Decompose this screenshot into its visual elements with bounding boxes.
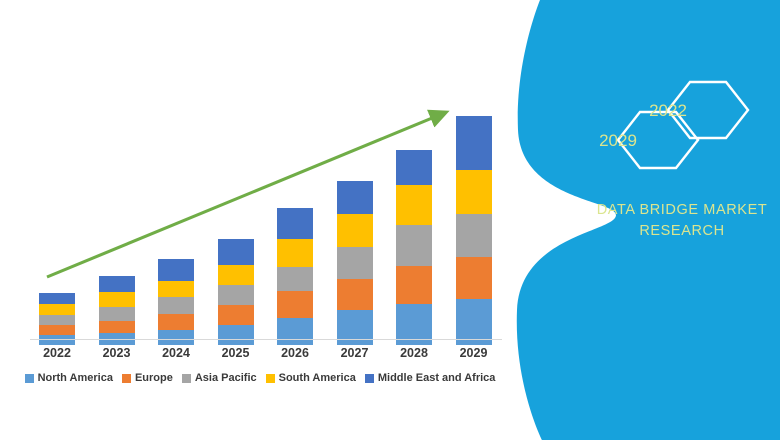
legend-label: North America [38,372,113,384]
bar-segment-2024-south-america [158,281,194,297]
stacked-bar-chart: 20222023202420252026202720282029 North A… [0,0,520,440]
bar-segment-2028-europe [396,266,432,305]
bar-segment-2027-asia-pacific [337,247,373,279]
bar-segment-2027-south-america [337,214,373,246]
bar-segment-2024-asia-pacific [158,297,194,313]
bar-2026 [277,208,313,345]
chart-legend: North AmericaEuropeAsia PacificSouth Ame… [0,372,520,384]
bar-segment-2026-north-america [277,318,313,345]
bar-segment-2025-south-america [218,265,254,285]
hexagon-2022-label: 2022 [628,101,708,121]
bar-segment-2024-europe [158,314,194,330]
bar-2025 [218,239,254,345]
bar-segment-2025-asia-pacific [218,285,254,305]
bar-segment-2026-middle-east-and-africa [277,208,313,238]
brand-panel: 2029 2022 DATA BRIDGE MARKET RESEARCH [500,0,780,440]
bar-segment-2024-north-america [158,330,194,345]
x-axis-label-2024: 2024 [146,346,206,360]
brand-logo: DATA BRIDGE MARKET RESEARCH [592,200,772,242]
x-axis-label-2029: 2029 [444,346,504,360]
bar-2024 [158,259,194,345]
bar-segment-2022-south-america [39,304,75,314]
hexagon-2029-label: 2029 [578,131,658,151]
legend-label: Europe [135,372,173,384]
legend-swatch-icon [266,374,275,383]
plot-area [0,0,520,345]
legend-swatch-icon [182,374,191,383]
legend-swatch-icon [122,374,131,383]
legend-label: South America [279,372,356,384]
infographic-canvas: 2029 2022 DATA BRIDGE MARKET RESEARCH 20… [0,0,780,440]
bar-segment-2025-north-america [218,325,254,345]
bar-segment-2023-south-america [99,292,135,306]
bar-segment-2029-europe [456,257,492,300]
bar-segment-2026-south-america [277,239,313,267]
bar-2028 [396,150,432,345]
bar-segment-2022-asia-pacific [39,315,75,325]
legend-item-south-america[interactable]: South America [266,372,356,384]
x-axis-labels: 20222023202420252026202720282029 [0,346,520,368]
x-axis-label-2023: 2023 [87,346,147,360]
x-axis-label-2026: 2026 [265,346,325,360]
bar-segment-2025-europe [218,305,254,324]
brand-logo-line-2: RESEARCH [592,221,772,242]
bar-segment-2027-europe [337,279,373,309]
x-axis-baseline [30,339,502,340]
bar-segment-2029-asia-pacific [456,214,492,257]
bar-segment-2023-asia-pacific [99,307,135,321]
legend-item-middle-east-and-africa[interactable]: Middle East and Africa [365,372,496,384]
bar-segment-2023-europe [99,321,135,333]
bar-segment-2027-middle-east-and-africa [337,181,373,214]
bar-segment-2029-south-america [456,170,492,215]
bar-2029 [456,116,492,345]
x-axis-label-2028: 2028 [384,346,444,360]
legend-item-north-america[interactable]: North America [25,372,113,384]
legend-item-europe[interactable]: Europe [122,372,173,384]
bar-2023 [99,276,135,345]
x-axis-label-2025: 2025 [206,346,266,360]
legend-swatch-icon [25,374,34,383]
bar-segment-2026-asia-pacific [277,267,313,291]
bar-segment-2028-asia-pacific [396,225,432,266]
bar-segment-2029-middle-east-and-africa [456,116,492,170]
bar-segment-2024-middle-east-and-africa [158,259,194,281]
x-axis-label-2027: 2027 [325,346,385,360]
bar-segment-2022-europe [39,325,75,335]
bar-2022 [39,293,75,345]
legend-label: Asia Pacific [195,372,257,384]
legend-label: Middle East and Africa [378,372,496,384]
legend-swatch-icon [365,374,374,383]
bar-segment-2023-middle-east-and-africa [99,276,135,292]
x-axis-label-2022: 2022 [27,346,87,360]
brand-logo-line-1: DATA BRIDGE MARKET [592,200,772,221]
bar-segment-2028-south-america [396,185,432,226]
bar-segment-2028-middle-east-and-africa [396,150,432,184]
bar-segment-2025-middle-east-and-africa [218,239,254,265]
legend-item-asia-pacific[interactable]: Asia Pacific [182,372,257,384]
bar-2027 [337,181,373,345]
bar-segment-2022-middle-east-and-africa [39,293,75,304]
bar-segment-2026-europe [277,291,313,317]
